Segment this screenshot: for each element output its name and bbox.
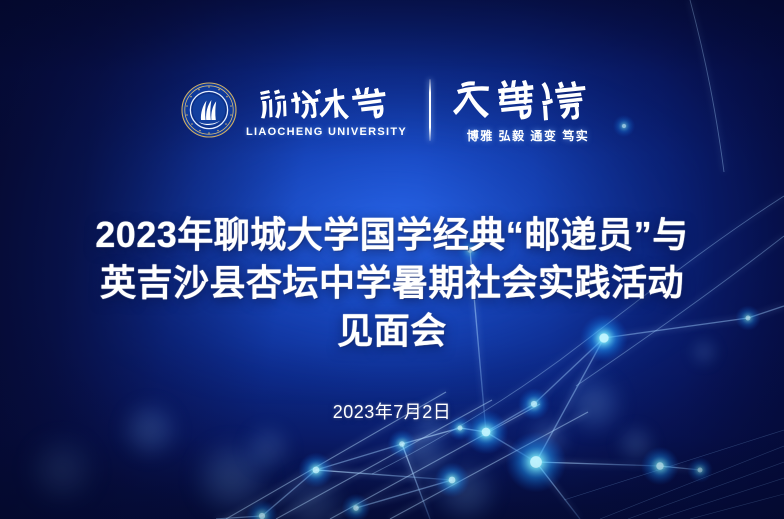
university-name-block: LIAOCHENG UNIVERSITY xyxy=(246,83,407,138)
event-title: 2023年聊城大学国学经典“邮递员”与 英吉沙县杏坛中学暑期社会实践活动 见面会 xyxy=(0,211,784,355)
university-logo-block: LIAOCHENG UNIVERSITY xyxy=(181,82,407,138)
network-node xyxy=(313,467,320,474)
liaocheng-university-emblem-icon xyxy=(181,82,237,138)
network-node xyxy=(353,505,359,511)
network-node xyxy=(449,477,456,484)
network-node xyxy=(458,426,463,431)
network-node xyxy=(399,441,405,447)
school-logo-block: 博雅 弘毅 通变 笃实 xyxy=(453,76,603,144)
network-node xyxy=(259,513,265,519)
event-date: 2023年7月2日 xyxy=(0,398,784,424)
logo-divider xyxy=(429,79,431,141)
event-banner: LIAOCHENG UNIVERSITY xyxy=(0,0,784,519)
title-line-1: 2023年聊城大学国学经典“邮递员”与 xyxy=(0,211,784,259)
title-line-2: 英吉沙县杏坛中学暑期社会实践活动 xyxy=(0,259,784,307)
network-node xyxy=(698,468,703,473)
network-node xyxy=(656,462,663,469)
university-name-en: LIAOCHENG UNIVERSITY xyxy=(246,126,407,138)
school-motto: 博雅 弘毅 通变 笃实 xyxy=(467,127,590,144)
logo-lockup: LIAOCHENG UNIVERSITY xyxy=(0,76,784,144)
university-name-cn-calligraphy xyxy=(255,83,397,125)
network-node xyxy=(482,428,491,437)
network-node xyxy=(530,456,542,468)
school-name-cn-calligraphy xyxy=(453,76,603,124)
title-line-3: 见面会 xyxy=(0,307,784,355)
